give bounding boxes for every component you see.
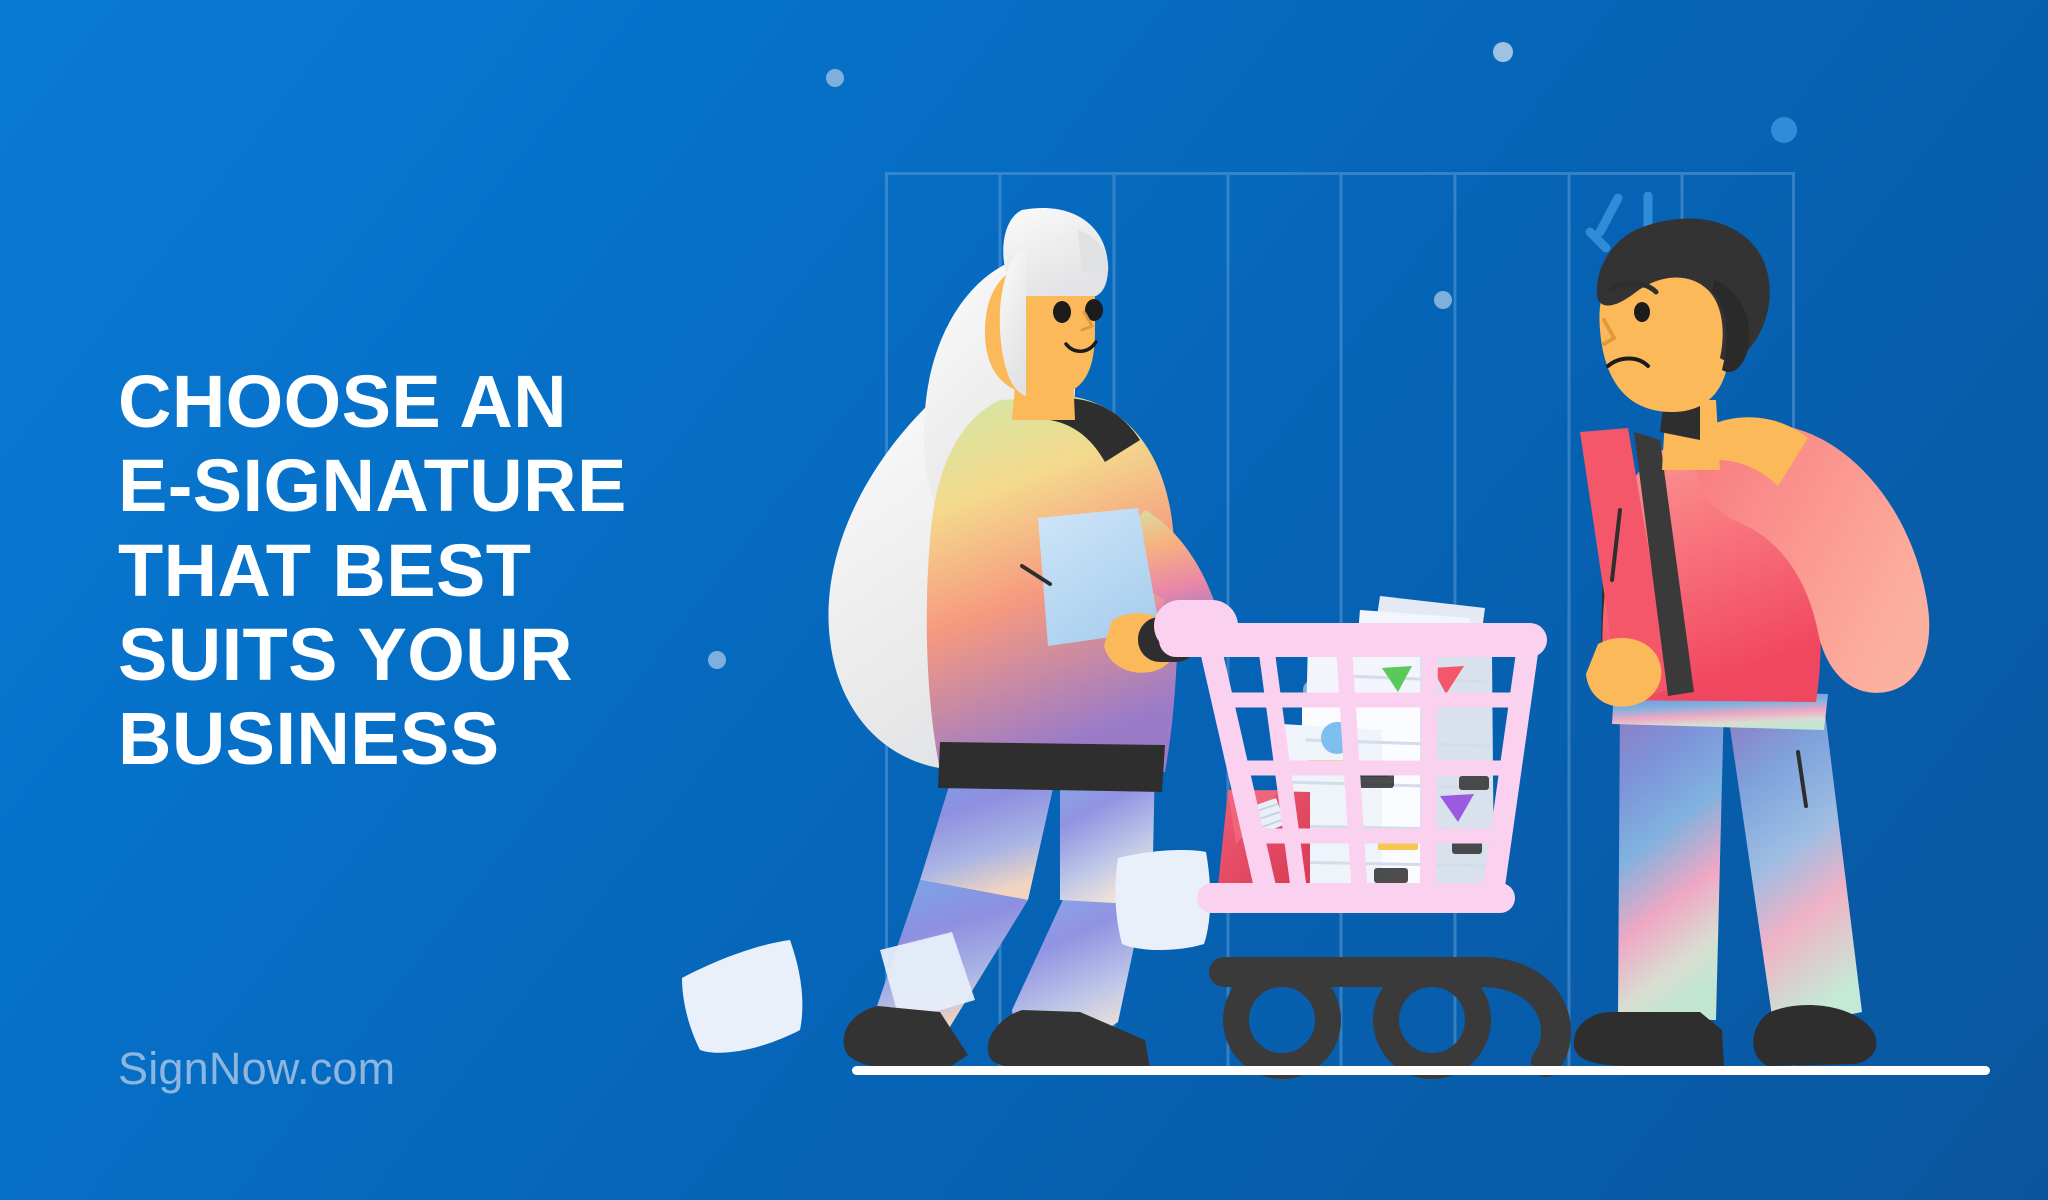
banner: CHOOSE AN E-SIGNATURE THAT BEST SUITS YO… bbox=[0, 0, 2048, 1200]
sticky-green bbox=[1382, 666, 1412, 692]
sticky-yellow-2 bbox=[1378, 838, 1418, 850]
page-title: CHOOSE AN E-SIGNATURE THAT BEST SUITS YO… bbox=[118, 360, 738, 782]
sticky-red bbox=[1432, 666, 1464, 694]
floating-paper-cart bbox=[1115, 850, 1210, 950]
decor-dot bbox=[1493, 42, 1513, 62]
woman-head bbox=[985, 208, 1108, 420]
cart-wheel-right bbox=[1386, 974, 1478, 1066]
man-eye bbox=[1634, 302, 1650, 322]
ground-line bbox=[852, 1066, 1990, 1075]
woman-hair-back bbox=[828, 262, 1085, 770]
sticky-yellow bbox=[1308, 760, 1350, 772]
stack-dot bbox=[1321, 722, 1353, 754]
cart-base bbox=[1224, 900, 1556, 1062]
background-grid bbox=[885, 172, 1795, 1070]
frustration-sparks bbox=[1590, 196, 1648, 248]
woman-eye-left bbox=[1053, 301, 1071, 323]
woman-eye-right bbox=[1085, 299, 1103, 321]
woman-legs bbox=[844, 755, 1155, 1071]
shopping-cart bbox=[1176, 626, 1532, 900]
floating-paper-left bbox=[682, 940, 802, 1053]
woman-hand bbox=[1104, 613, 1198, 673]
decor-dot bbox=[1303, 680, 1323, 700]
held-document bbox=[1022, 508, 1160, 646]
woman-torso bbox=[927, 396, 1218, 792]
cart-wheels bbox=[1236, 974, 1478, 1066]
brand-wordmark[interactable]: SignNow.com bbox=[118, 1043, 395, 1095]
cart-wheel-left bbox=[1236, 974, 1328, 1066]
man-figure bbox=[1574, 196, 1929, 1066]
decor-dot bbox=[1434, 291, 1452, 309]
decor-dot bbox=[1771, 117, 1797, 143]
decor-dot bbox=[826, 69, 844, 87]
red-folder bbox=[1218, 790, 1310, 888]
sticky-purple bbox=[1440, 794, 1474, 822]
copy-block: CHOOSE AN E-SIGNATURE THAT BEST SUITS YO… bbox=[118, 360, 738, 782]
paper-stack bbox=[1280, 596, 1494, 890]
